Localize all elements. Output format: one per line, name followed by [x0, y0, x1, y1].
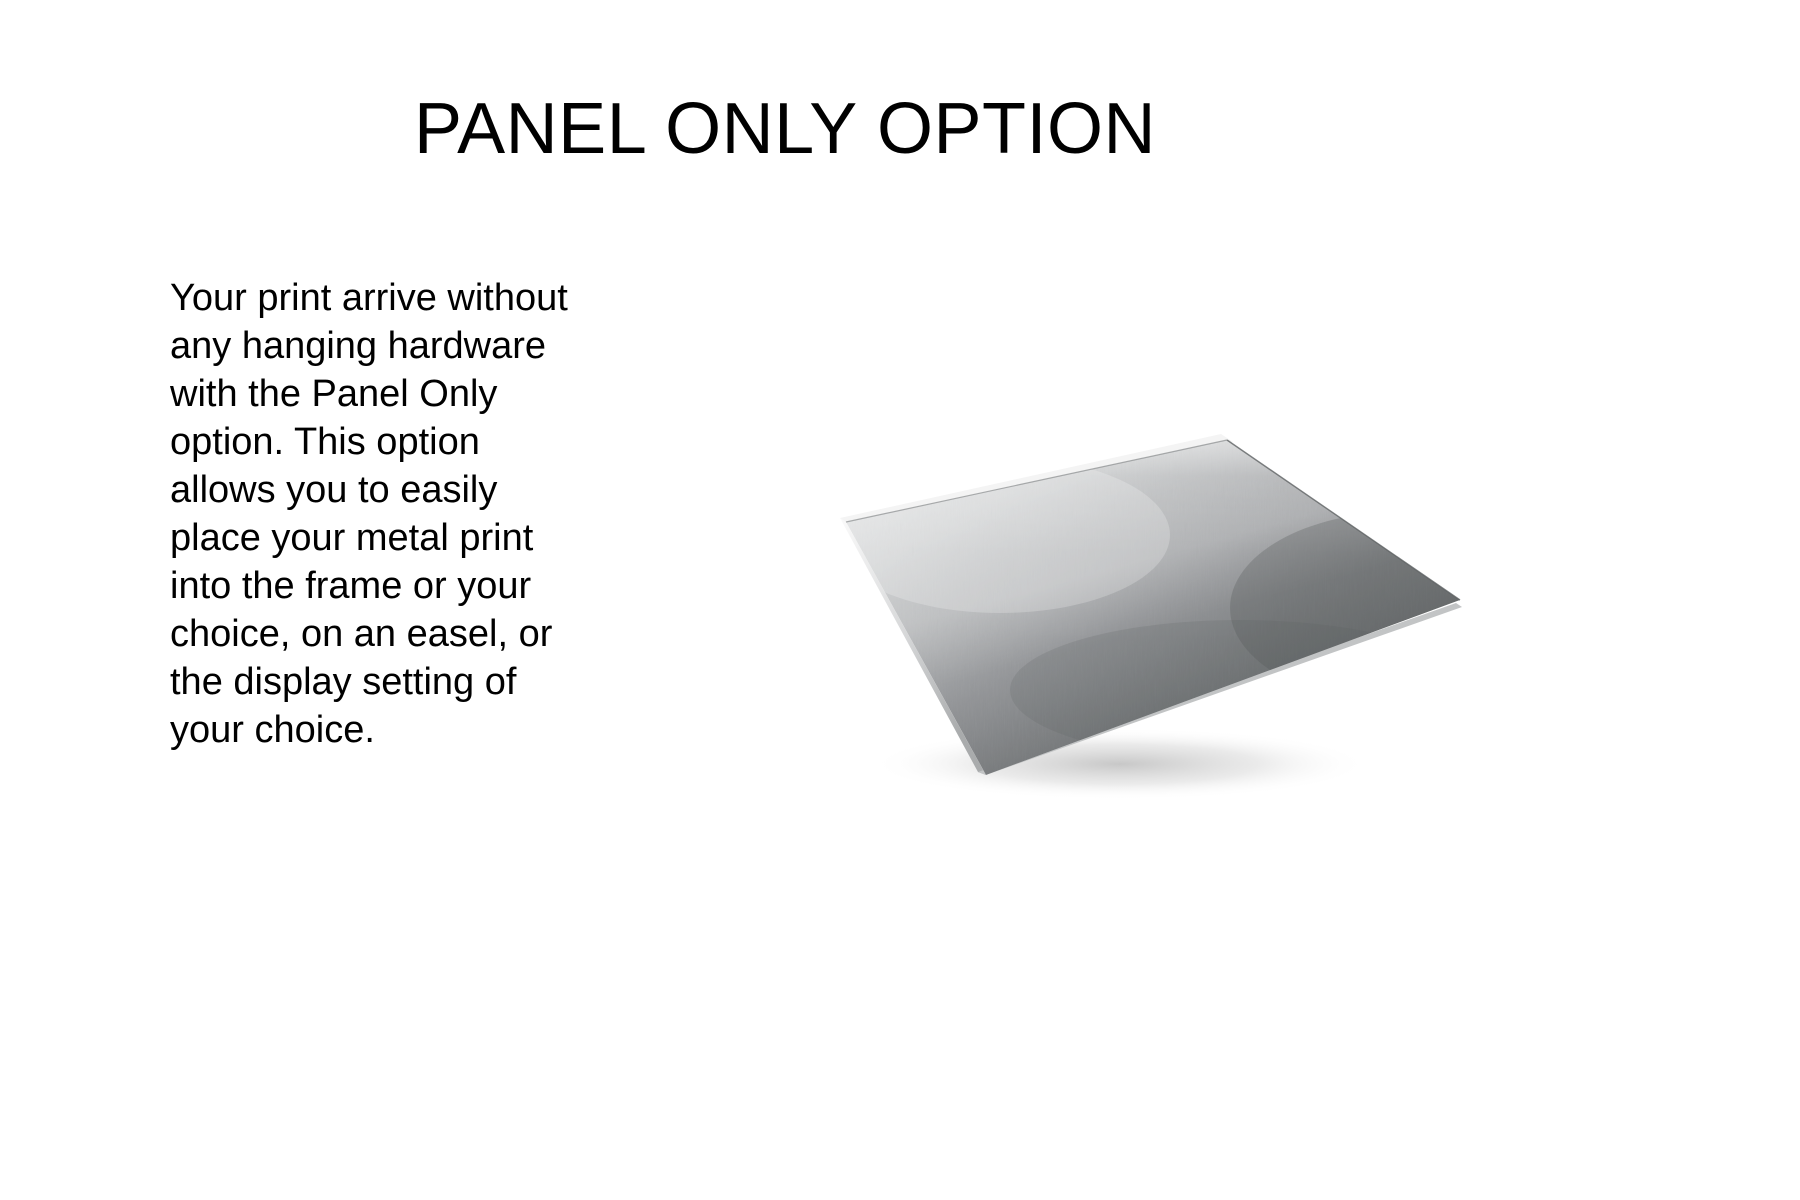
- body-line: place your metal print: [170, 514, 602, 562]
- body-line: allows you to easily: [170, 466, 602, 514]
- body-text-block: Your print arrive without any hanging ha…: [170, 274, 602, 754]
- body-line: option. This option: [170, 418, 602, 466]
- body-line: any hanging hardware: [170, 322, 602, 370]
- metal-panel-illustration: [700, 360, 1500, 810]
- page-title: PANEL ONLY OPTION: [0, 86, 1570, 172]
- body-line: your choice.: [170, 706, 602, 754]
- body-line: choice, on an easel, or: [170, 610, 602, 658]
- panel-face: [830, 434, 1500, 775]
- body-line: into the frame or your: [170, 562, 602, 610]
- slide-canvas: PANEL ONLY OPTION Your print arrive with…: [0, 0, 1800, 1200]
- body-line: the display setting of: [170, 658, 602, 706]
- panel-shadow: [870, 728, 1370, 800]
- metal-panel-figure: [700, 360, 1500, 810]
- body-line: Your print arrive without: [170, 274, 602, 322]
- body-line: with the Panel Only: [170, 370, 602, 418]
